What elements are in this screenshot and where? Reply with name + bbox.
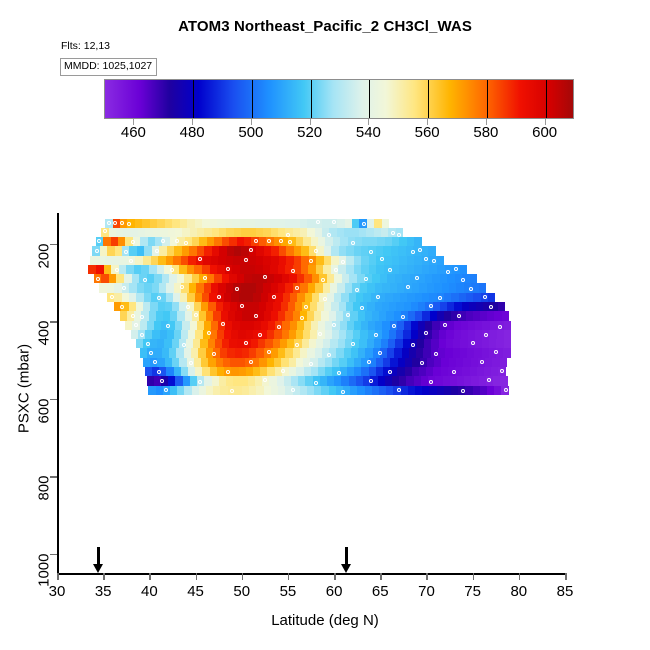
heatmap-cell	[271, 311, 278, 320]
heatmap-cell	[115, 246, 122, 255]
heatmap-cell	[454, 330, 461, 339]
heatmap-cell	[345, 219, 352, 228]
heatmap-cell	[324, 246, 331, 255]
heatmap-cell	[212, 376, 219, 385]
heatmap-cell	[175, 321, 182, 330]
heatmap-cell	[195, 330, 202, 339]
heatmap-cell	[453, 339, 460, 348]
sample-point-marker	[318, 332, 322, 336]
heatmap-cell	[453, 348, 460, 357]
heatmap-cell	[241, 246, 248, 255]
heatmap-cell	[285, 311, 292, 320]
heatmap-cell	[194, 265, 202, 274]
heatmap-cell	[323, 265, 331, 274]
heatmap-cell	[464, 376, 471, 385]
heatmap-cell	[405, 367, 412, 376]
heatmap-cell	[150, 339, 157, 348]
heatmap-cell	[456, 283, 463, 292]
heatmap-cell	[168, 228, 175, 237]
heatmap-cell	[294, 256, 302, 265]
heatmap-cell	[344, 348, 351, 357]
x-axis-tick	[565, 573, 567, 580]
heatmap-cell	[147, 321, 154, 330]
heatmap-cell	[332, 330, 339, 339]
heatmap-cell	[217, 330, 224, 339]
heatmap-cell	[307, 219, 314, 228]
heatmap-cell	[414, 376, 421, 385]
heatmap-cell	[450, 376, 457, 385]
heatmap-cell	[395, 339, 402, 348]
heatmap-cell	[445, 348, 452, 357]
heatmap-cell	[180, 293, 187, 302]
sample-point-marker	[143, 278, 147, 282]
heatmap-cell	[340, 237, 347, 246]
heatmap-cell	[244, 302, 251, 311]
heatmap-cell	[237, 274, 245, 283]
heatmap-cell	[249, 386, 256, 395]
heatmap-cell	[173, 293, 180, 302]
heatmap-cell	[212, 228, 219, 237]
heatmap-cell	[479, 283, 486, 292]
heatmap-band	[120, 311, 510, 320]
heatmap-cell	[314, 386, 321, 395]
colorbar-separator	[369, 80, 370, 118]
heatmap-cell	[281, 358, 288, 367]
heatmap-cell	[403, 339, 410, 348]
heatmap-cell	[255, 265, 263, 274]
heatmap-cell	[304, 367, 311, 376]
sample-point-marker	[323, 297, 327, 301]
heatmap-cell	[98, 256, 106, 265]
heatmap-cell	[325, 237, 332, 246]
heatmap-cell	[159, 283, 166, 292]
heatmap-cell	[271, 386, 278, 395]
heatmap-cell	[467, 348, 474, 357]
heatmap-cell	[447, 321, 454, 330]
sample-point-marker	[120, 305, 124, 309]
heatmap-cell	[244, 274, 252, 283]
heatmap-cell	[202, 367, 209, 376]
heatmap-cell	[295, 302, 302, 311]
heatmap-cell	[234, 228, 241, 237]
heatmap-cell	[263, 256, 271, 265]
heatmap-cell	[411, 330, 418, 339]
heatmap-cell	[140, 237, 147, 246]
heatmap-cell	[444, 293, 451, 302]
heatmap-cell	[415, 311, 422, 320]
heatmap-cell	[151, 256, 159, 265]
heatmap-cell	[149, 311, 156, 320]
sample-point-marker	[309, 362, 313, 366]
heatmap-cell	[470, 367, 477, 376]
heatmap-cell	[169, 348, 176, 357]
heatmap-cell	[392, 265, 400, 274]
sample-point-marker	[291, 388, 295, 392]
heatmap-cell	[261, 321, 268, 330]
heatmap-band	[105, 219, 389, 228]
heatmap-cell	[235, 348, 242, 357]
heatmap-cell	[422, 311, 429, 320]
heatmap-cell	[145, 228, 152, 237]
heatmap-cell	[429, 386, 436, 395]
heatmap-cell	[239, 367, 246, 376]
heatmap-cell	[270, 265, 278, 274]
heatmap-cell	[350, 311, 357, 320]
heatmap-cell	[425, 321, 432, 330]
heatmap-cell	[211, 283, 218, 292]
heatmap-cell	[292, 219, 299, 228]
heatmap-cell	[411, 302, 418, 311]
heatmap-cell	[316, 265, 324, 274]
heatmap-cell	[334, 376, 341, 385]
heatmap-cell	[487, 311, 494, 320]
heatmap-cell	[375, 321, 382, 330]
heatmap-band	[140, 348, 511, 357]
heatmap-cell	[285, 283, 292, 292]
sample-point-marker	[146, 342, 150, 346]
heatmap-cell	[213, 386, 220, 395]
heatmap-cell	[175, 228, 182, 237]
heatmap-cell	[174, 330, 181, 339]
heatmap-cell	[99, 283, 106, 292]
heatmap-cell	[479, 376, 486, 385]
heatmap-cell	[375, 283, 382, 292]
heatmap-cell	[143, 256, 151, 265]
heatmap-cell	[468, 321, 475, 330]
heatmap-cell	[382, 321, 389, 330]
heatmap-cell	[300, 386, 307, 395]
heatmap-cell	[223, 302, 230, 311]
heatmap-cell	[187, 265, 195, 274]
heatmap-cell	[338, 339, 345, 348]
heatmap-cell	[284, 376, 291, 385]
heatmap-cell	[473, 386, 480, 395]
heatmap-band	[143, 358, 508, 367]
heatmap-cell	[334, 293, 341, 302]
heatmap-cell	[241, 283, 248, 292]
heatmap-cell	[231, 330, 238, 339]
heatmap-cell	[208, 339, 215, 348]
sample-point-marker	[300, 316, 304, 320]
heatmap-cell	[176, 348, 183, 357]
heatmap-cell	[187, 219, 194, 228]
heatmap-cell	[197, 246, 204, 255]
heatmap-cell	[289, 330, 296, 339]
heatmap-cell	[157, 339, 164, 348]
sample-point-marker	[212, 352, 216, 356]
heatmap-cell	[302, 339, 309, 348]
heatmap-cell	[482, 348, 489, 357]
heatmap-cell	[300, 283, 307, 292]
heatmap-cell	[170, 386, 177, 395]
heatmap-cell	[147, 376, 154, 385]
heatmap-cell	[307, 348, 314, 357]
heatmap-cell	[267, 367, 274, 376]
heatmap-cell	[222, 274, 230, 283]
heatmap-cell	[493, 376, 500, 385]
heatmap-band	[101, 228, 403, 237]
heatmap-cell	[444, 311, 451, 320]
heatmap-cell	[309, 339, 316, 348]
colorbar-gradient	[105, 80, 573, 118]
heatmap-cell	[402, 274, 410, 283]
heatmap-cell	[357, 274, 365, 283]
heatmap-cell	[465, 386, 472, 395]
heatmap-cell	[167, 330, 174, 339]
heatmap-cell	[301, 265, 309, 274]
heatmap-cell	[233, 256, 241, 265]
heatmap-cell	[367, 283, 374, 292]
heatmap-cell	[125, 321, 132, 330]
heatmap-cell	[104, 265, 112, 274]
heatmap-cell	[192, 386, 199, 395]
colorbar: 460480500520540560580600	[104, 79, 574, 125]
heatmap-cell	[403, 330, 410, 339]
heatmap-cell	[213, 311, 220, 320]
sample-point-marker	[127, 222, 131, 226]
heatmap-cell	[249, 348, 256, 357]
heatmap-cell	[415, 386, 422, 395]
heatmap-cell	[219, 376, 226, 385]
heatmap-cell	[143, 302, 150, 311]
x-axis-tick	[288, 573, 290, 580]
heatmap-band	[92, 246, 436, 255]
heatmap-cell	[468, 330, 475, 339]
heatmap-cell	[318, 367, 325, 376]
heatmap-cell	[475, 339, 482, 348]
heatmap-cell	[317, 302, 324, 311]
heatmap-cell	[471, 376, 478, 385]
sample-point-marker	[140, 333, 144, 337]
heatmap-cell	[210, 367, 217, 376]
heatmap-cell	[361, 367, 368, 376]
heatmap-cell	[310, 302, 317, 311]
heatmap-cell	[451, 293, 458, 302]
sample-point-marker	[454, 267, 458, 271]
heatmap-cell	[212, 246, 219, 255]
heatmap-cell	[253, 293, 260, 302]
sample-point-marker	[483, 295, 487, 299]
heatmap-cell	[500, 376, 507, 385]
heatmap-cell	[311, 321, 318, 330]
heatmap-cell	[443, 376, 450, 385]
heatmap-cell	[113, 256, 121, 265]
heatmap-cell	[422, 265, 430, 274]
heatmap-cell	[392, 237, 399, 246]
heatmap-cell	[129, 293, 136, 302]
colorbar-separator	[428, 80, 429, 118]
heatmap-cell	[349, 376, 356, 385]
heatmap-cell	[338, 265, 346, 274]
heatmap-band	[99, 283, 486, 292]
heatmap-cell	[142, 219, 149, 228]
heatmap-cell	[256, 283, 263, 292]
heatmap-cell	[172, 219, 179, 228]
heatmap-cell	[437, 311, 444, 320]
heatmap-cell	[257, 311, 264, 320]
heatmap-cell	[231, 367, 238, 376]
heatmap-cell	[379, 311, 386, 320]
heatmap-cell	[440, 274, 448, 283]
flights-annotation: Flts: 12,13	[61, 40, 110, 52]
heatmap-cell	[152, 283, 159, 292]
heatmap-cell	[199, 311, 206, 320]
heatmap-cell	[466, 311, 473, 320]
heatmap-cell	[179, 358, 186, 367]
heatmap-cell	[350, 386, 357, 395]
colorbar-tick-label: 560	[397, 124, 457, 141]
heatmap-cell	[160, 228, 167, 237]
heatmap-cell	[164, 339, 171, 348]
heatmap-cell	[473, 311, 480, 320]
heatmap-cell	[296, 330, 303, 339]
heatmap-cell	[247, 219, 254, 228]
heatmap-cell	[296, 367, 303, 376]
heatmap-cell	[394, 348, 401, 357]
heatmap-cell	[231, 293, 238, 302]
heatmap-cell	[101, 274, 109, 283]
heatmap-cell	[305, 293, 312, 302]
heatmap-cell	[279, 256, 287, 265]
heatmap-cell	[366, 228, 373, 237]
heatmap-cell	[166, 283, 173, 292]
heatmap-cell	[107, 283, 114, 292]
heatmap-cell	[383, 246, 390, 255]
heatmap-cell	[145, 367, 152, 376]
heatmap-cell	[195, 367, 202, 376]
heatmap-cell	[367, 339, 374, 348]
heatmap-cell	[220, 386, 227, 395]
heatmap-cell	[277, 376, 284, 385]
sample-point-marker	[429, 380, 433, 384]
heatmap-cell	[103, 237, 110, 246]
heatmap-cell	[184, 348, 191, 357]
heatmap-cell	[389, 330, 396, 339]
sample-point-marker	[351, 342, 355, 346]
sample-point-marker	[131, 314, 135, 318]
heatmap-cell	[340, 321, 347, 330]
heatmap-cell	[429, 265, 437, 274]
heatmap-cell	[477, 367, 484, 376]
heatmap-cell	[131, 330, 138, 339]
heatmap-cell	[96, 265, 104, 274]
heatmap-cell	[320, 376, 327, 385]
heatmap-cell	[175, 376, 182, 385]
x-axis-tick	[380, 573, 382, 580]
heatmap-cell	[223, 358, 230, 367]
heatmap-cell	[325, 367, 332, 376]
heatmap-cell	[255, 376, 262, 385]
heatmap-cell	[163, 311, 170, 320]
heatmap-cell	[341, 293, 348, 302]
heatmap-cell	[192, 274, 200, 283]
heatmap-cell	[233, 376, 240, 385]
heatmap-cell	[109, 228, 116, 237]
heatmap-cell	[246, 367, 253, 376]
heatmap-cell	[193, 339, 200, 348]
heatmap-cell	[290, 293, 297, 302]
sample-point-marker	[254, 239, 258, 243]
heatmap-cell	[318, 358, 325, 367]
heatmap-cell	[217, 219, 224, 228]
heatmap-cell	[254, 321, 261, 330]
heatmap-cell	[131, 228, 138, 237]
heatmap-cell	[311, 367, 318, 376]
heatmap-cell	[372, 311, 379, 320]
heatmap-cell	[359, 228, 366, 237]
sample-point-marker	[286, 233, 290, 237]
heatmap-cell	[316, 339, 323, 348]
heatmap-cell	[435, 376, 442, 385]
heatmap-cell	[204, 228, 211, 237]
heatmap-cell	[368, 321, 375, 330]
heatmap-cell	[120, 256, 128, 265]
heatmap-cell	[181, 330, 188, 339]
heatmap-cell	[428, 246, 435, 255]
heatmap-cell	[490, 321, 497, 330]
heatmap-cell	[220, 348, 227, 357]
heatmap-cell	[216, 358, 223, 367]
heatmap-cell	[226, 228, 233, 237]
heatmap-cell	[182, 246, 189, 255]
colorbar-tick-label: 500	[221, 124, 281, 141]
heatmap-cell	[361, 246, 368, 255]
y-axis-tick-label: 800	[36, 476, 53, 520]
heatmap-cell	[395, 274, 403, 283]
heatmap-cell	[166, 367, 173, 376]
heatmap-cell	[402, 348, 409, 357]
sample-point-marker	[480, 360, 484, 364]
heatmap-cell	[471, 358, 478, 367]
heatmap-cell	[324, 302, 331, 311]
heatmap-cell	[208, 358, 215, 367]
heatmap-cell	[217, 367, 224, 376]
heatmap-cell	[152, 330, 159, 339]
heatmap-cell	[241, 228, 248, 237]
heatmap-cell	[360, 330, 367, 339]
heatmap-cell	[361, 321, 368, 330]
heatmap-cell	[124, 274, 132, 283]
heatmap-cell	[253, 367, 260, 376]
heatmap-cell	[186, 339, 193, 348]
heatmap-cell	[297, 321, 304, 330]
heatmap-cell	[372, 386, 379, 395]
heatmap-cell	[229, 237, 236, 246]
heatmap-cell	[430, 311, 437, 320]
heatmap-cell	[88, 265, 96, 274]
sample-point-marker	[434, 352, 438, 356]
heatmap-cell	[356, 376, 363, 385]
heatmap-cell	[374, 228, 381, 237]
heatmap-cell	[150, 302, 157, 311]
heatmap-cell	[482, 321, 489, 330]
heatmap-cell	[165, 219, 172, 228]
heatmap-cell	[264, 246, 271, 255]
heatmap-cell	[347, 358, 354, 367]
heatmap-cell	[329, 386, 336, 395]
heatmap-cell	[273, 302, 280, 311]
heatmap-cell	[226, 283, 233, 292]
heatmap-cell	[228, 311, 235, 320]
heatmap-cell	[352, 228, 359, 237]
heatmap-cell	[114, 293, 121, 302]
heatmap-cell	[459, 293, 466, 302]
heatmap-cell	[145, 330, 152, 339]
heatmap-cell	[418, 321, 425, 330]
heatmap-cell	[251, 339, 258, 348]
heatmap-cell	[232, 219, 239, 228]
heatmap-cell	[296, 237, 303, 246]
